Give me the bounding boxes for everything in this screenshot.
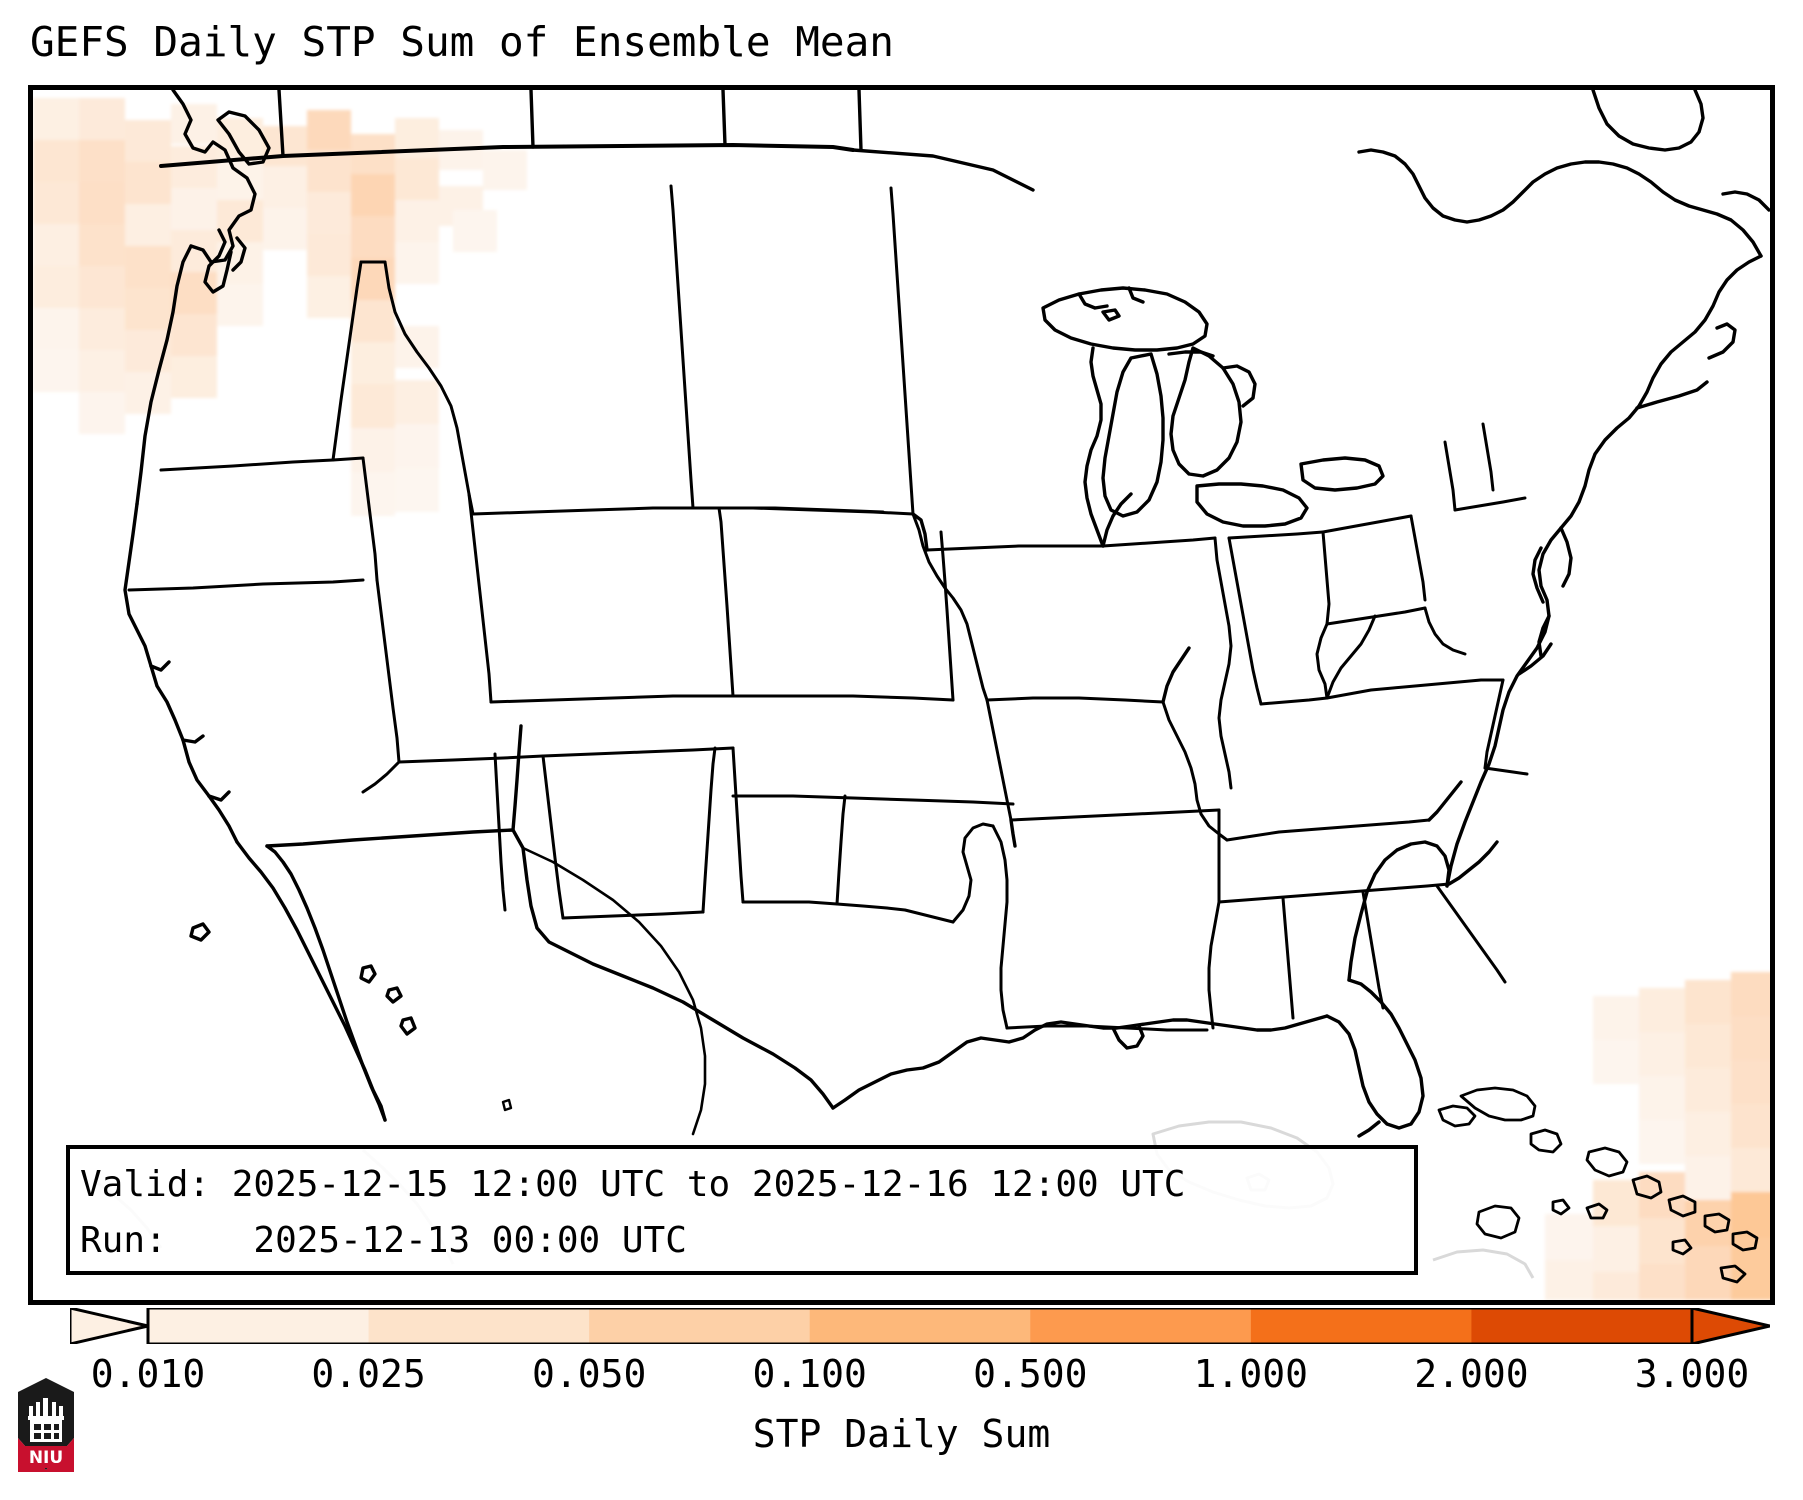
map-plot-area [28, 85, 1775, 1305]
niu-logo-text: NIU [29, 1448, 63, 1468]
colorbar-tick-label: 0.025 [311, 1352, 425, 1396]
colorbar-band [1030, 1308, 1251, 1344]
niu-shield-icon: NIU [14, 1376, 78, 1474]
colorbar-band [148, 1308, 369, 1344]
colorbar [70, 1308, 1770, 1344]
colorbar-tick-label: 2.000 [1414, 1352, 1528, 1396]
colorbar-band [369, 1308, 590, 1344]
colorbar-band [1471, 1308, 1692, 1344]
colorbar-tick-label: 0.500 [973, 1352, 1087, 1396]
colorbar-tick-label: 1.000 [1194, 1352, 1308, 1396]
colorbar-tick-labels: 0.0100.0250.0500.1000.5001.0002.0003.000 [0, 1352, 1803, 1402]
colorbar-band [589, 1308, 810, 1344]
run-time-text: Run: 2025-12-13 00:00 UTC [80, 1213, 1414, 1269]
colorbar-tick-label: 3.000 [1635, 1352, 1749, 1396]
niu-logo: NIU [14, 1376, 78, 1474]
forecast-time-annotation: Valid: 2025-12-15 12:00 UTC to 2025-12-1… [66, 1145, 1418, 1275]
colorbar-gradient [70, 1308, 1770, 1344]
map-geography-outlines [33, 90, 1770, 1300]
colorbar-axis-label: STP Daily Sum [0, 1412, 1803, 1456]
page-title: GEFS Daily STP Sum of Ensemble Mean [30, 18, 894, 66]
colorbar-tick-label: 0.100 [753, 1352, 867, 1396]
colorbar-band [810, 1308, 1031, 1344]
colorbar-tick-label: 0.010 [91, 1352, 205, 1396]
colorbar-band [1251, 1308, 1472, 1344]
valid-time-text: Valid: 2025-12-15 12:00 UTC to 2025-12-1… [80, 1157, 1414, 1213]
colorbar-tick-label: 0.050 [532, 1352, 646, 1396]
